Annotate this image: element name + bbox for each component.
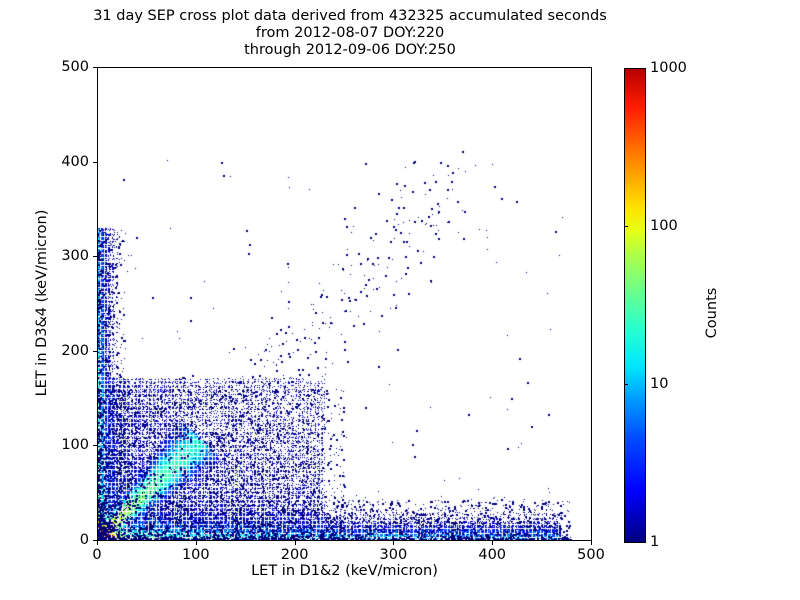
plot-area [97, 67, 592, 541]
x-tick-label: 100 [182, 547, 210, 563]
x-tick-label: 300 [380, 547, 408, 563]
colorbar-label: Counts [704, 233, 720, 393]
scatter-density-plot [98, 68, 591, 540]
colorbar-tick-label: 1 [650, 534, 659, 550]
plot-title: 31 day SEP cross plot data derived from … [0, 8, 700, 59]
plot-title-line-2: from 2012-08-07 DOY:220 [0, 25, 700, 42]
colorbar-tick-label: 100 [650, 218, 678, 234]
y-tick-mark [93, 256, 97, 257]
x-tick-mark [295, 541, 296, 545]
y-tick-mark [93, 540, 97, 541]
x-tick-label: 400 [478, 547, 506, 563]
y-tick-label: 200 [27, 343, 89, 359]
y-tick-mark [93, 162, 97, 163]
plot-title-line-1: 31 day SEP cross plot data derived from … [0, 8, 700, 25]
x-tick-label: 0 [92, 547, 101, 563]
y-tick-mark [93, 67, 97, 68]
colorbar-tick-mark [624, 226, 628, 227]
colorbar [624, 68, 646, 543]
y-tick-mark [93, 351, 97, 352]
y-tick-label: 400 [27, 154, 89, 170]
y-tick-label: 500 [27, 59, 89, 75]
y-tick-label: 300 [27, 248, 89, 264]
x-tick-label: 200 [281, 547, 309, 563]
x-tick-mark [196, 541, 197, 545]
colorbar-tick-label: 1000 [650, 60, 687, 76]
colorbar-tick-mark [624, 384, 628, 385]
x-tick-label: 500 [577, 547, 605, 563]
figure-canvas: 31 day SEP cross plot data derived from … [0, 0, 800, 600]
x-axis-label: LET in D1&2 (keV/micron) [97, 563, 592, 579]
y-tick-label: 100 [27, 437, 89, 453]
colorbar-tick-label: 10 [650, 376, 668, 392]
x-tick-mark [591, 541, 592, 545]
x-tick-mark [97, 541, 98, 545]
y-axis-label: LET in D3&4 (keV/micron) [34, 153, 50, 453]
x-tick-mark [393, 541, 394, 545]
x-tick-mark [492, 541, 493, 545]
plot-title-line-3: through 2012-09-06 DOY:250 [0, 42, 700, 59]
y-tick-mark [93, 445, 97, 446]
y-tick-label: 0 [27, 532, 89, 548]
